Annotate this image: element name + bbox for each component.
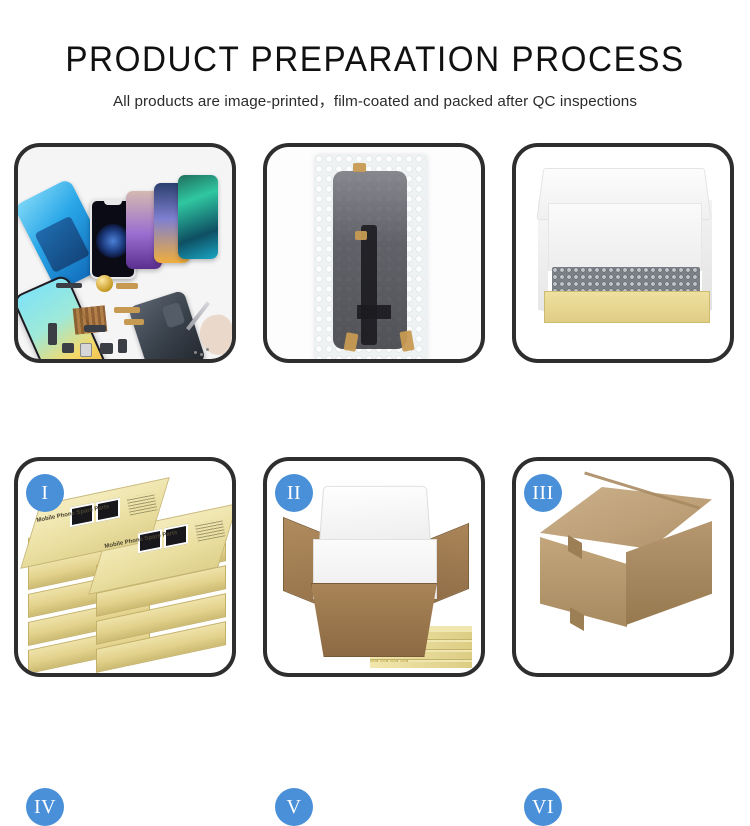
page-title: PRODUCT PREPARATION PROCESS (19, 40, 732, 80)
process-step-panel-3[interactable] (512, 143, 734, 363)
tape-icon (355, 231, 367, 240)
foam-sheet-icon (548, 203, 702, 271)
step-badge-2: II (275, 474, 313, 512)
tape-icon (399, 330, 414, 352)
step-badge-4: IV (26, 788, 64, 826)
step-badge-6: VI (524, 788, 562, 826)
spare-part-icon (80, 343, 92, 357)
step-1-image (18, 147, 232, 359)
flex-cable-icon (84, 325, 106, 332)
open-foam-box-scene (516, 147, 730, 359)
process-step-panel-1[interactable] (14, 143, 236, 363)
screws-icon (194, 351, 197, 354)
spare-part-icon (48, 323, 57, 345)
carton-body-icon (311, 583, 437, 657)
kraft-box-front-icon (544, 291, 710, 323)
bubble-wrap-scene (267, 147, 481, 359)
carton-left-face-icon (540, 537, 627, 627)
phone-notch-icon (104, 201, 122, 205)
step-badge-3: III (524, 474, 562, 512)
tape-icon (353, 163, 366, 172)
step-3-image (516, 147, 730, 359)
spare-part-icon (62, 343, 74, 353)
step-badge-1: I (26, 474, 64, 512)
spare-part-icon (118, 339, 127, 353)
packed-box-item (370, 662, 472, 668)
connector-icon (357, 305, 391, 319)
step-2-image (267, 147, 481, 359)
flex-cable-icon (361, 225, 377, 345)
step-badge-5: V (275, 788, 313, 826)
green-phone-icon (178, 175, 218, 259)
speaker-coil-icon (96, 275, 113, 292)
page-header: PRODUCT PREPARATION PROCESS All products… (0, 0, 750, 130)
bubble-wrap-fill-icon (552, 267, 700, 293)
page-subtitle: All products are image-printed，film-coat… (0, 89, 750, 111)
spare-part-icon (56, 283, 82, 288)
flex-cable-icon (114, 307, 140, 313)
spare-part-icon (116, 283, 138, 289)
spare-part-icon (100, 343, 113, 354)
phone-parts-scene (18, 147, 232, 359)
bubble-wrap-bag-icon (315, 155, 427, 359)
process-step-grid: Mobile Phone Spare Parts Mobile Phone Sp… (14, 143, 736, 677)
flex-cable-icon (124, 319, 144, 325)
process-step-panel-2[interactable] (263, 143, 485, 363)
